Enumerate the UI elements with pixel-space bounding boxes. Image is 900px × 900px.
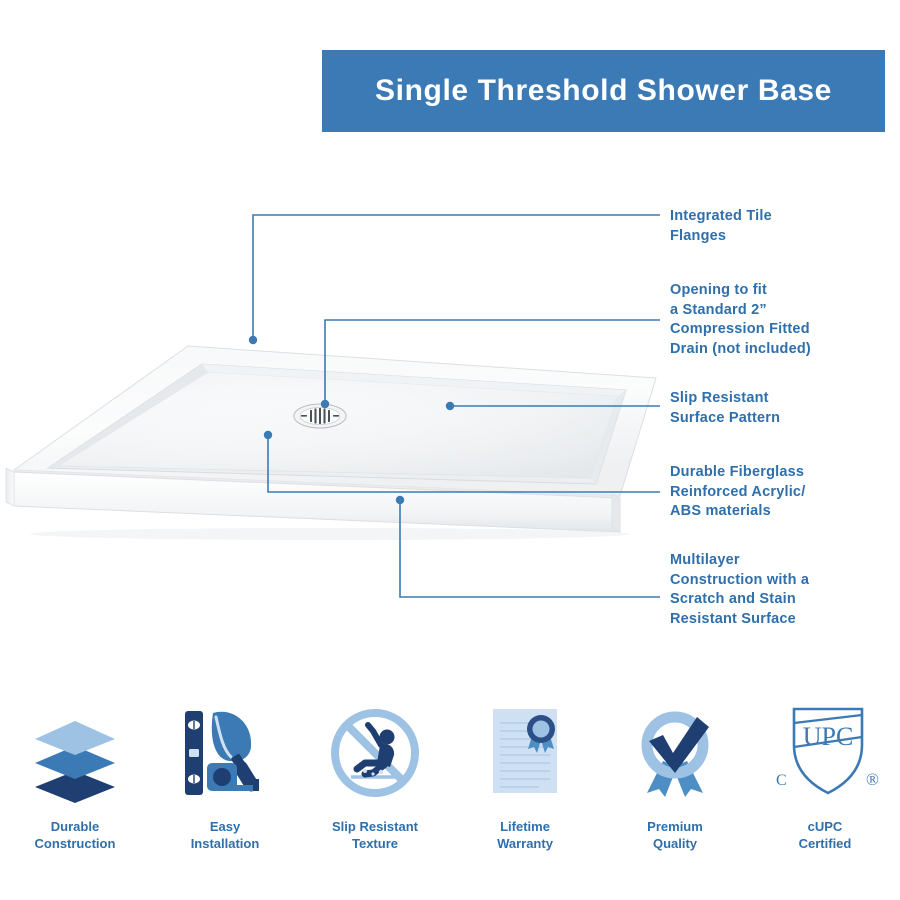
page-title: Single Threshold Shower Base [375,74,832,108]
product-illustration [0,320,660,540]
feature-caption: Lifetime Warranty [497,818,553,852]
upc-c-mark: C [776,772,787,789]
feature-caption: Slip Resistant Texture [332,818,418,852]
callout-multilayer-construction: Multilayer Construction with a Scratch a… [670,551,809,629]
level-trowel-icon [171,698,279,808]
feature-caption: Durable Construction [35,818,116,852]
shower-base-drawing [0,320,660,540]
feature-cupc-certified: UPC C ® cUPC Certified [754,698,896,852]
callout-drain-opening: Opening to fit a Standard 2” Compression… [670,281,811,359]
feature-slip-resistant-texture: Slip Resistant Texture [304,698,446,852]
upc-shield-icon: UPC C ® [766,698,884,808]
feature-caption: Premium Quality [647,818,703,852]
feature-lifetime-warranty: Lifetime Warranty [454,698,596,852]
feature-premium-quality: Premium Quality [604,698,746,852]
feature-strip: Durable Construction [0,698,900,873]
callout-integrated-tile-flanges: Integrated Tile Flanges [670,207,772,246]
layers-icon [21,698,129,808]
callout-durable-materials: Durable Fiberglass Reinforced Acrylic/ A… [670,463,805,522]
feature-caption: Easy Installation [191,818,260,852]
upc-shield-text: UPC [803,722,854,751]
certificate-icon [471,698,579,808]
title-banner: Single Threshold Shower Base [322,50,885,132]
feature-easy-installation: Easy Installation [154,698,296,852]
upc-registered-mark: ® [866,770,879,789]
no-slip-icon [321,698,429,808]
callout-slip-resistant-surface: Slip Resistant Surface Pattern [670,389,780,428]
check-rosette-icon [621,698,729,808]
feature-caption: cUPC Certified [799,818,852,852]
feature-durable-construction: Durable Construction [4,698,146,852]
drain-grate [294,404,346,428]
